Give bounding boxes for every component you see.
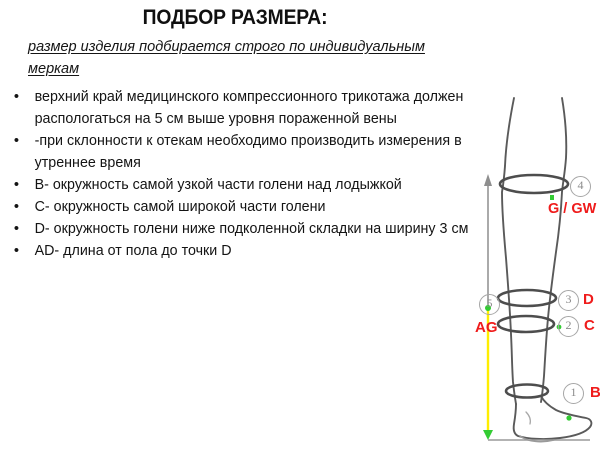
- list-item: • AD- длина от пола до точки D: [8, 240, 485, 262]
- callout-circle-5[interactable]: 5: [479, 294, 500, 315]
- list-item-text: D- окружность голени ниже подколенной ск…: [35, 221, 469, 237]
- bullet-icon: •: [14, 218, 19, 240]
- measurement-band-c: [498, 316, 554, 332]
- bullet-icon: •: [14, 174, 19, 196]
- callout-label-d: D: [583, 292, 594, 307]
- bullet-icon: •: [14, 196, 19, 218]
- list-item-text: AD- длина от пола до точки D: [35, 243, 232, 259]
- subtitle-line-1: размер изделия подбирается строго по инд…: [28, 38, 425, 55]
- leg-measurement-diagram: 4 G / GW 5 AG 3 D 2 C 1 B: [466, 96, 600, 450]
- callout-circle-2[interactable]: 2: [558, 316, 579, 337]
- callout-label-ag: AG: [475, 320, 498, 335]
- list-item-text: верхний край медицинского компрессионног…: [35, 89, 464, 127]
- marker-b-point: [566, 415, 571, 420]
- subtitle: размер изделия подбирается строго по инд…: [28, 36, 455, 80]
- marker-g-point: [550, 195, 554, 200]
- measurement-band-g: [500, 175, 568, 193]
- slide-canvas: ПОДБОР РАЗМЕРА: размер изделия подбирает…: [0, 0, 600, 450]
- measurement-guidelines-list: • верхний край медицинского компрессионн…: [8, 86, 492, 262]
- measurement-arrow-head: [484, 174, 492, 186]
- list-item: • C- окружность самой широкой части голе…: [8, 196, 485, 218]
- callout-circle-1[interactable]: 1: [563, 383, 584, 404]
- floor-arrow-head: [483, 430, 493, 440]
- measurement-band-d: [498, 290, 556, 306]
- leg-outline-right: [541, 98, 566, 402]
- list-item-text: B- окружность самой узкой части голени н…: [35, 177, 402, 193]
- bullet-icon: •: [14, 86, 19, 108]
- bullet-icon: •: [14, 130, 19, 152]
- ankle-bone-line: [526, 412, 530, 424]
- list-item: • B- окружность самой узкой части голени…: [8, 174, 485, 196]
- callout-circle-3[interactable]: 3: [558, 290, 579, 311]
- list-item-text: C- окружность самой широкой части голени: [35, 199, 326, 215]
- list-item: • D- окружность голени ниже подколенной …: [8, 218, 485, 240]
- subtitle-line-2: меркам: [28, 60, 79, 77]
- callout-label-g-gw: G / GW: [548, 202, 596, 217]
- page-title: ПОДБОР РАЗМЕРА:: [19, 6, 451, 30]
- bullet-icon: •: [14, 240, 19, 262]
- list-item-text: -при склонности к отекам необходимо прои…: [35, 133, 462, 171]
- callout-label-c: C: [584, 318, 595, 333]
- leg-outline-left: [502, 98, 516, 404]
- list-item: • верхний край медицинского компрессионн…: [8, 86, 485, 130]
- list-item: • -при склонности к отекам необходимо пр…: [8, 130, 485, 174]
- callout-label-b: B: [590, 385, 600, 400]
- foot-outline: [514, 396, 592, 439]
- callout-circle-4[interactable]: 4: [570, 176, 591, 197]
